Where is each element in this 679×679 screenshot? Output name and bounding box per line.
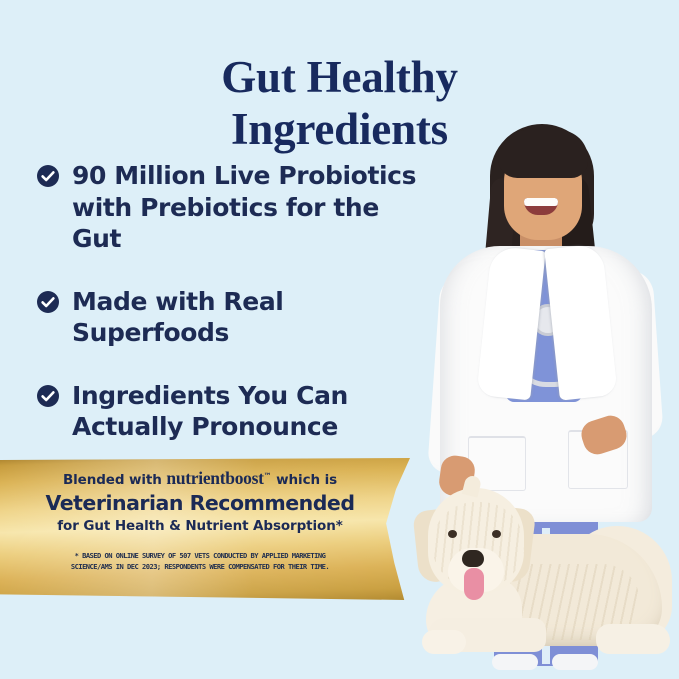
vet-neck: [520, 222, 562, 270]
vet-eye-right: [548, 174, 559, 178]
vet-shoe-right: [552, 654, 598, 670]
veterinarian-photo: [432, 118, 679, 548]
dog-head-fur-texture: [432, 502, 524, 588]
benefit-text: Ingredients You Can Actually Pronounce: [72, 380, 348, 443]
list-item: Ingredients You Can Actually Pronounce: [36, 380, 436, 443]
benefit-text: Made with Real Superfoods: [72, 286, 436, 349]
benefit-line-2: Actually Pronounce: [72, 412, 338, 441]
vet-coat-pocket-left: [468, 436, 526, 491]
check-circle-icon: [36, 164, 60, 188]
banner-footnote: * BASED ON ONLINE SURVEY OF 507 VETS CON…: [56, 550, 344, 572]
vet-face: [504, 142, 582, 240]
benefit-line-2: with Prebiotics for the Gut: [72, 193, 379, 254]
vet-smile: [524, 198, 558, 215]
vet-coat-lapel-left: [476, 246, 545, 401]
dog-front-leg: [428, 618, 546, 652]
dog-chest: [426, 576, 522, 652]
dog-ear-left: [412, 508, 453, 583]
page-title-line-1: Gut Healthy: [0, 52, 679, 104]
list-item: Made with Real Superfoods: [36, 286, 436, 349]
benefit-line-1: Ingredients You Can: [72, 381, 348, 410]
dog-nose: [462, 550, 484, 567]
dog-photo: [392, 468, 679, 668]
banner-subline: for Gut Health & Nutrient Absorption*: [0, 518, 402, 536]
vet-hair-strand-right: [553, 175, 600, 306]
benefit-line-1: 90 Million Live Probiotics: [72, 161, 416, 190]
benefits-list: 90 Million Live Probiotics with Prebioti…: [36, 160, 436, 474]
dog-head: [428, 488, 524, 594]
dog-paw-rear: [596, 624, 670, 654]
nutrientboost-brand: nutrientboost: [166, 468, 263, 488]
benefit-text: 90 Million Live Probiotics with Prebioti…: [72, 160, 436, 255]
vet-hand-left: [437, 454, 476, 498]
vet-lab-coat: [440, 246, 652, 522]
vet-teeth: [524, 198, 558, 206]
vet-arm-left: [427, 272, 495, 475]
dog-head-tuft: [462, 474, 482, 497]
veterinarian-recommended-banner: Blended with nutrientboost™ which is Vet…: [0, 458, 410, 600]
stethoscope-bell: [532, 304, 564, 336]
banner-content: Blended with nutrientboost™ which is Vet…: [0, 458, 402, 535]
banner-lead-line: Blended with nutrientboost™ which is: [0, 467, 402, 490]
trademark-symbol: ™: [264, 472, 272, 481]
vet-pants-gap: [542, 528, 550, 664]
dog-fur-texture: [476, 564, 640, 640]
stethoscope-tubing: [514, 260, 586, 387]
footnote-line-1: * BASED ON ONLINE SURVEY OF 507 VETS CON…: [56, 550, 344, 561]
benefit-line-1: Made with Real Superfoods: [72, 287, 283, 348]
dog-eye-left: [448, 530, 457, 538]
vet-hand-right: [578, 412, 630, 458]
footnote-line-2: SCIENCE/AMS IN DEC 2023; RESPONDENTS WER…: [56, 561, 344, 572]
vet-coat-lapel-right: [544, 243, 618, 400]
check-circle-icon: [36, 384, 60, 408]
banner-lead-text: Blended with: [63, 472, 162, 488]
gut-healthy-ingredients-promo-card: Gut Healthy Ingredients 90 Million Live …: [0, 0, 679, 679]
banner-tail-text: which is: [276, 472, 337, 488]
banner-headline: Veterinarian Recommended: [0, 491, 402, 516]
dog-muzzle: [448, 548, 504, 592]
vet-eye-left: [518, 174, 529, 178]
check-circle-icon: [36, 290, 60, 314]
dog-eye-right: [492, 530, 501, 538]
dog-body: [450, 534, 662, 646]
vet-shoe-left: [492, 654, 538, 670]
vet-hair-strand-left: [482, 177, 517, 289]
vet-scrub-top: [506, 250, 582, 402]
vet-coat-pocket-right: [568, 430, 628, 489]
dog-paw-front: [422, 630, 466, 654]
list-item: 90 Million Live Probiotics with Prebioti…: [36, 160, 436, 255]
page-title-line-2: Ingredients: [0, 104, 679, 156]
dog-ear-right: [492, 506, 537, 584]
dog-hindquarters: [564, 526, 672, 644]
page-title: Gut Healthy Ingredients: [0, 52, 679, 156]
vet-scrub-pants: [494, 500, 598, 666]
dog-tongue: [464, 568, 484, 600]
vet-arm-right: [590, 268, 664, 442]
